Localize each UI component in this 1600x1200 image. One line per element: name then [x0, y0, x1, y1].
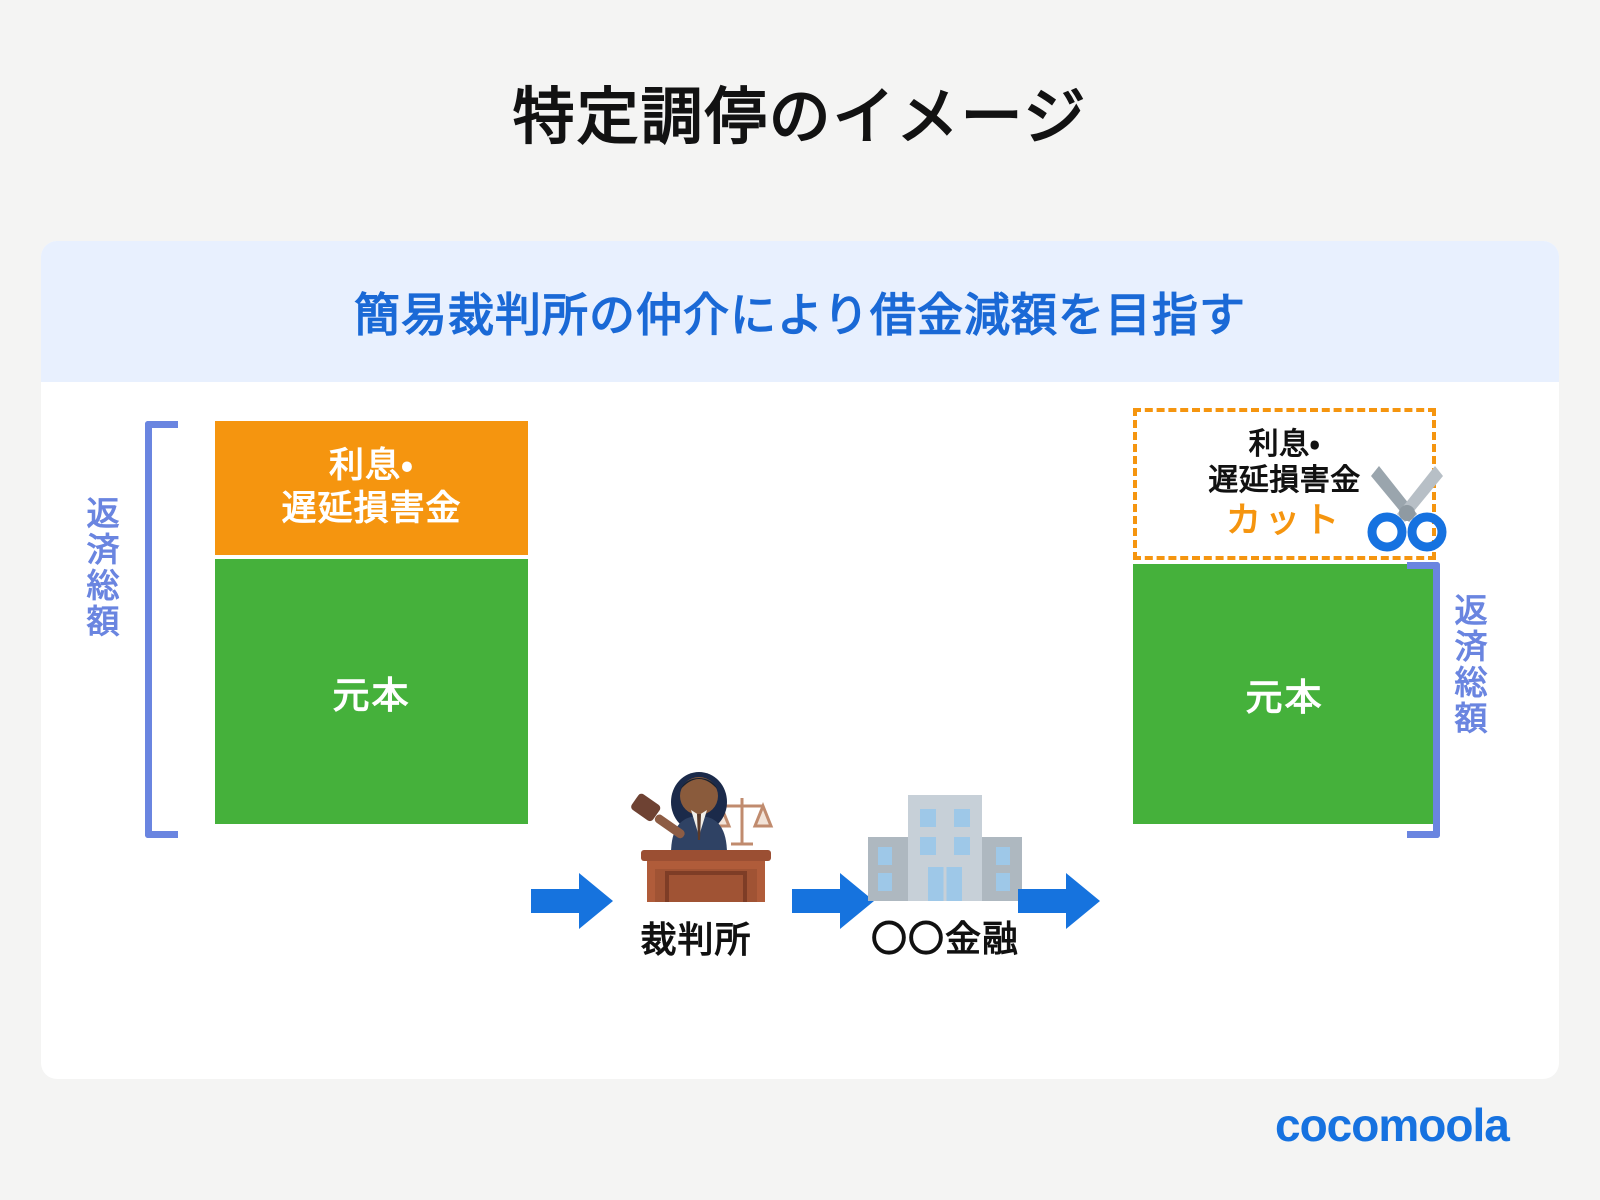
bracket-before	[145, 421, 178, 838]
cut-label-line2: 遅延損害金	[1208, 464, 1361, 497]
diagram: 返済総額 利息・ 遅延損害金 元本	[41, 382, 1559, 942]
banner-text: 簡易裁判所の仲介により借金減額を目指す	[354, 279, 1246, 345]
arrow-right-icon-1	[531, 873, 613, 929]
interest-label-line2: 遅延損害金	[281, 489, 461, 528]
cut-box-cut-label: カット	[1226, 501, 1343, 541]
bar-before: 利息・ 遅延損害金 元本	[215, 421, 528, 824]
page-title: 特定調停のイメージ	[0, 84, 1600, 152]
bracket-after	[1407, 562, 1440, 838]
scissors-icon	[1359, 456, 1455, 552]
node-finance-label: 〇〇金融	[856, 910, 1034, 962]
interest-label-line1: 利息・	[329, 446, 414, 485]
brand-logo: cocomoola	[1275, 1098, 1509, 1152]
bar-segment-principal-before-label: 元本	[333, 665, 411, 719]
bar-segment-interest-before: 利息・ 遅延損害金	[215, 421, 528, 555]
bar-segment-principal-before: 元本	[215, 559, 528, 824]
office-building-icon	[856, 789, 1034, 901]
bar-segment-principal-after-label: 元本	[1246, 667, 1324, 721]
node-court-label: 裁判所	[611, 911, 781, 963]
node-finance: 〇〇金融	[856, 789, 1034, 962]
arrow-right-icon-3	[1018, 873, 1100, 929]
bar-segment-principal-after: 元本	[1133, 564, 1436, 824]
bracket-label-before: 返済総額	[84, 496, 117, 640]
cut-label-line1: 利息・	[1249, 428, 1321, 461]
cut-box-label: 利息・ 遅延損害金	[1208, 427, 1361, 499]
bar-segment-interest-before-label: 利息・ 遅延損害金	[281, 445, 461, 530]
court-judge-icon	[611, 762, 781, 902]
banner: 簡易裁判所の仲介により借金減額を目指す	[41, 241, 1559, 382]
node-court: 裁判所	[611, 762, 781, 963]
bracket-label-after: 返済総額	[1452, 593, 1485, 737]
infographic-card: 簡易裁判所の仲介により借金減額を目指す 返済総額 利息・ 遅延損害金 元本	[41, 241, 1559, 1079]
